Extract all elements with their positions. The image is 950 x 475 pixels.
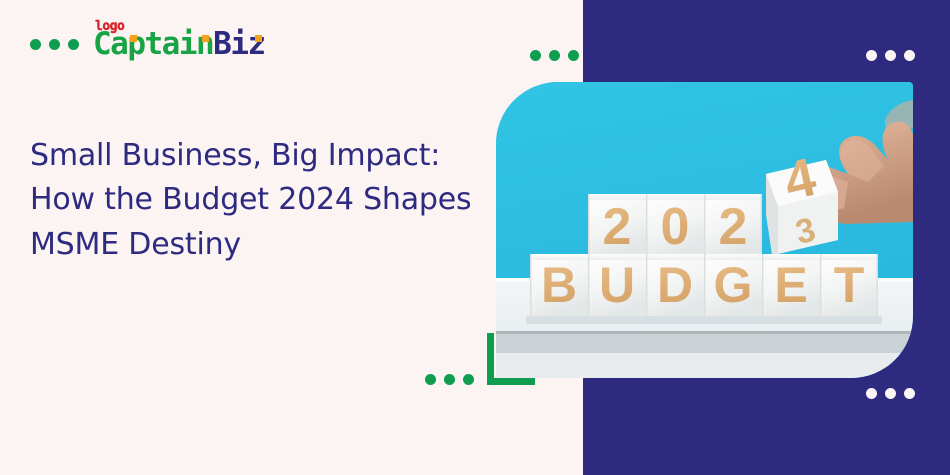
svg-text:G: G <box>714 257 753 313</box>
decor-dot-icon <box>885 50 896 61</box>
decor-dot-icon <box>68 39 79 50</box>
header-dot-cluster <box>30 39 79 50</box>
decor-dot-icon <box>904 388 915 399</box>
decor-dot-icon <box>568 50 579 61</box>
svg-text:0: 0 <box>661 198 690 256</box>
bracket-horizontal-bar <box>487 378 535 385</box>
logo-accent-square-icon <box>202 35 209 42</box>
decor-dot-icon <box>463 374 474 385</box>
logo-word-biz: Biz <box>213 29 265 60</box>
svg-text:2: 2 <box>603 198 632 256</box>
decor-dot-icon <box>444 374 455 385</box>
svg-text:E: E <box>774 257 807 313</box>
svg-text:U: U <box>599 257 635 313</box>
budget-blocks-row: B U D G E T <box>530 254 878 316</box>
page-title: Small Business, Big Impact: How the Budg… <box>30 134 500 267</box>
decor-dot-icon <box>49 39 60 50</box>
svg-text:D: D <box>657 257 693 313</box>
decor-dot-icon <box>866 50 877 61</box>
logo-accent-square-icon <box>255 35 262 42</box>
header-logo-row: logo Captain Biz <box>30 24 265 64</box>
logo-accent-square-icon <box>130 35 137 42</box>
decor-dot-icon <box>549 50 560 61</box>
year-blocks-row: 2 0 2 <box>588 194 762 256</box>
svg-text:B: B <box>541 257 577 313</box>
logo-badge-label: logo <box>95 20 124 33</box>
decor-dot-icon <box>30 39 41 50</box>
svg-text:T: T <box>834 257 865 313</box>
dot-cluster-bottom-right <box>866 388 915 399</box>
svg-text:2: 2 <box>719 198 748 256</box>
decor-dot-icon <box>866 388 877 399</box>
dot-cluster-bottom-left <box>425 374 474 385</box>
captainbiz-logo[interactable]: logo Captain Biz <box>93 29 265 60</box>
decor-dot-icon <box>904 50 915 61</box>
decor-dot-icon <box>885 388 896 399</box>
dot-cluster-top-left <box>530 50 579 61</box>
decor-dot-icon <box>530 50 541 61</box>
hero-photo-card: 4 3 2 0 2 <box>496 82 913 378</box>
promo-banner: logo Captain Biz Small Business, Big Imp… <box>0 0 950 475</box>
budget-blocks-photo: 4 3 2 0 2 <box>496 82 913 378</box>
decor-dot-icon <box>425 374 436 385</box>
dot-cluster-top-right <box>866 50 915 61</box>
